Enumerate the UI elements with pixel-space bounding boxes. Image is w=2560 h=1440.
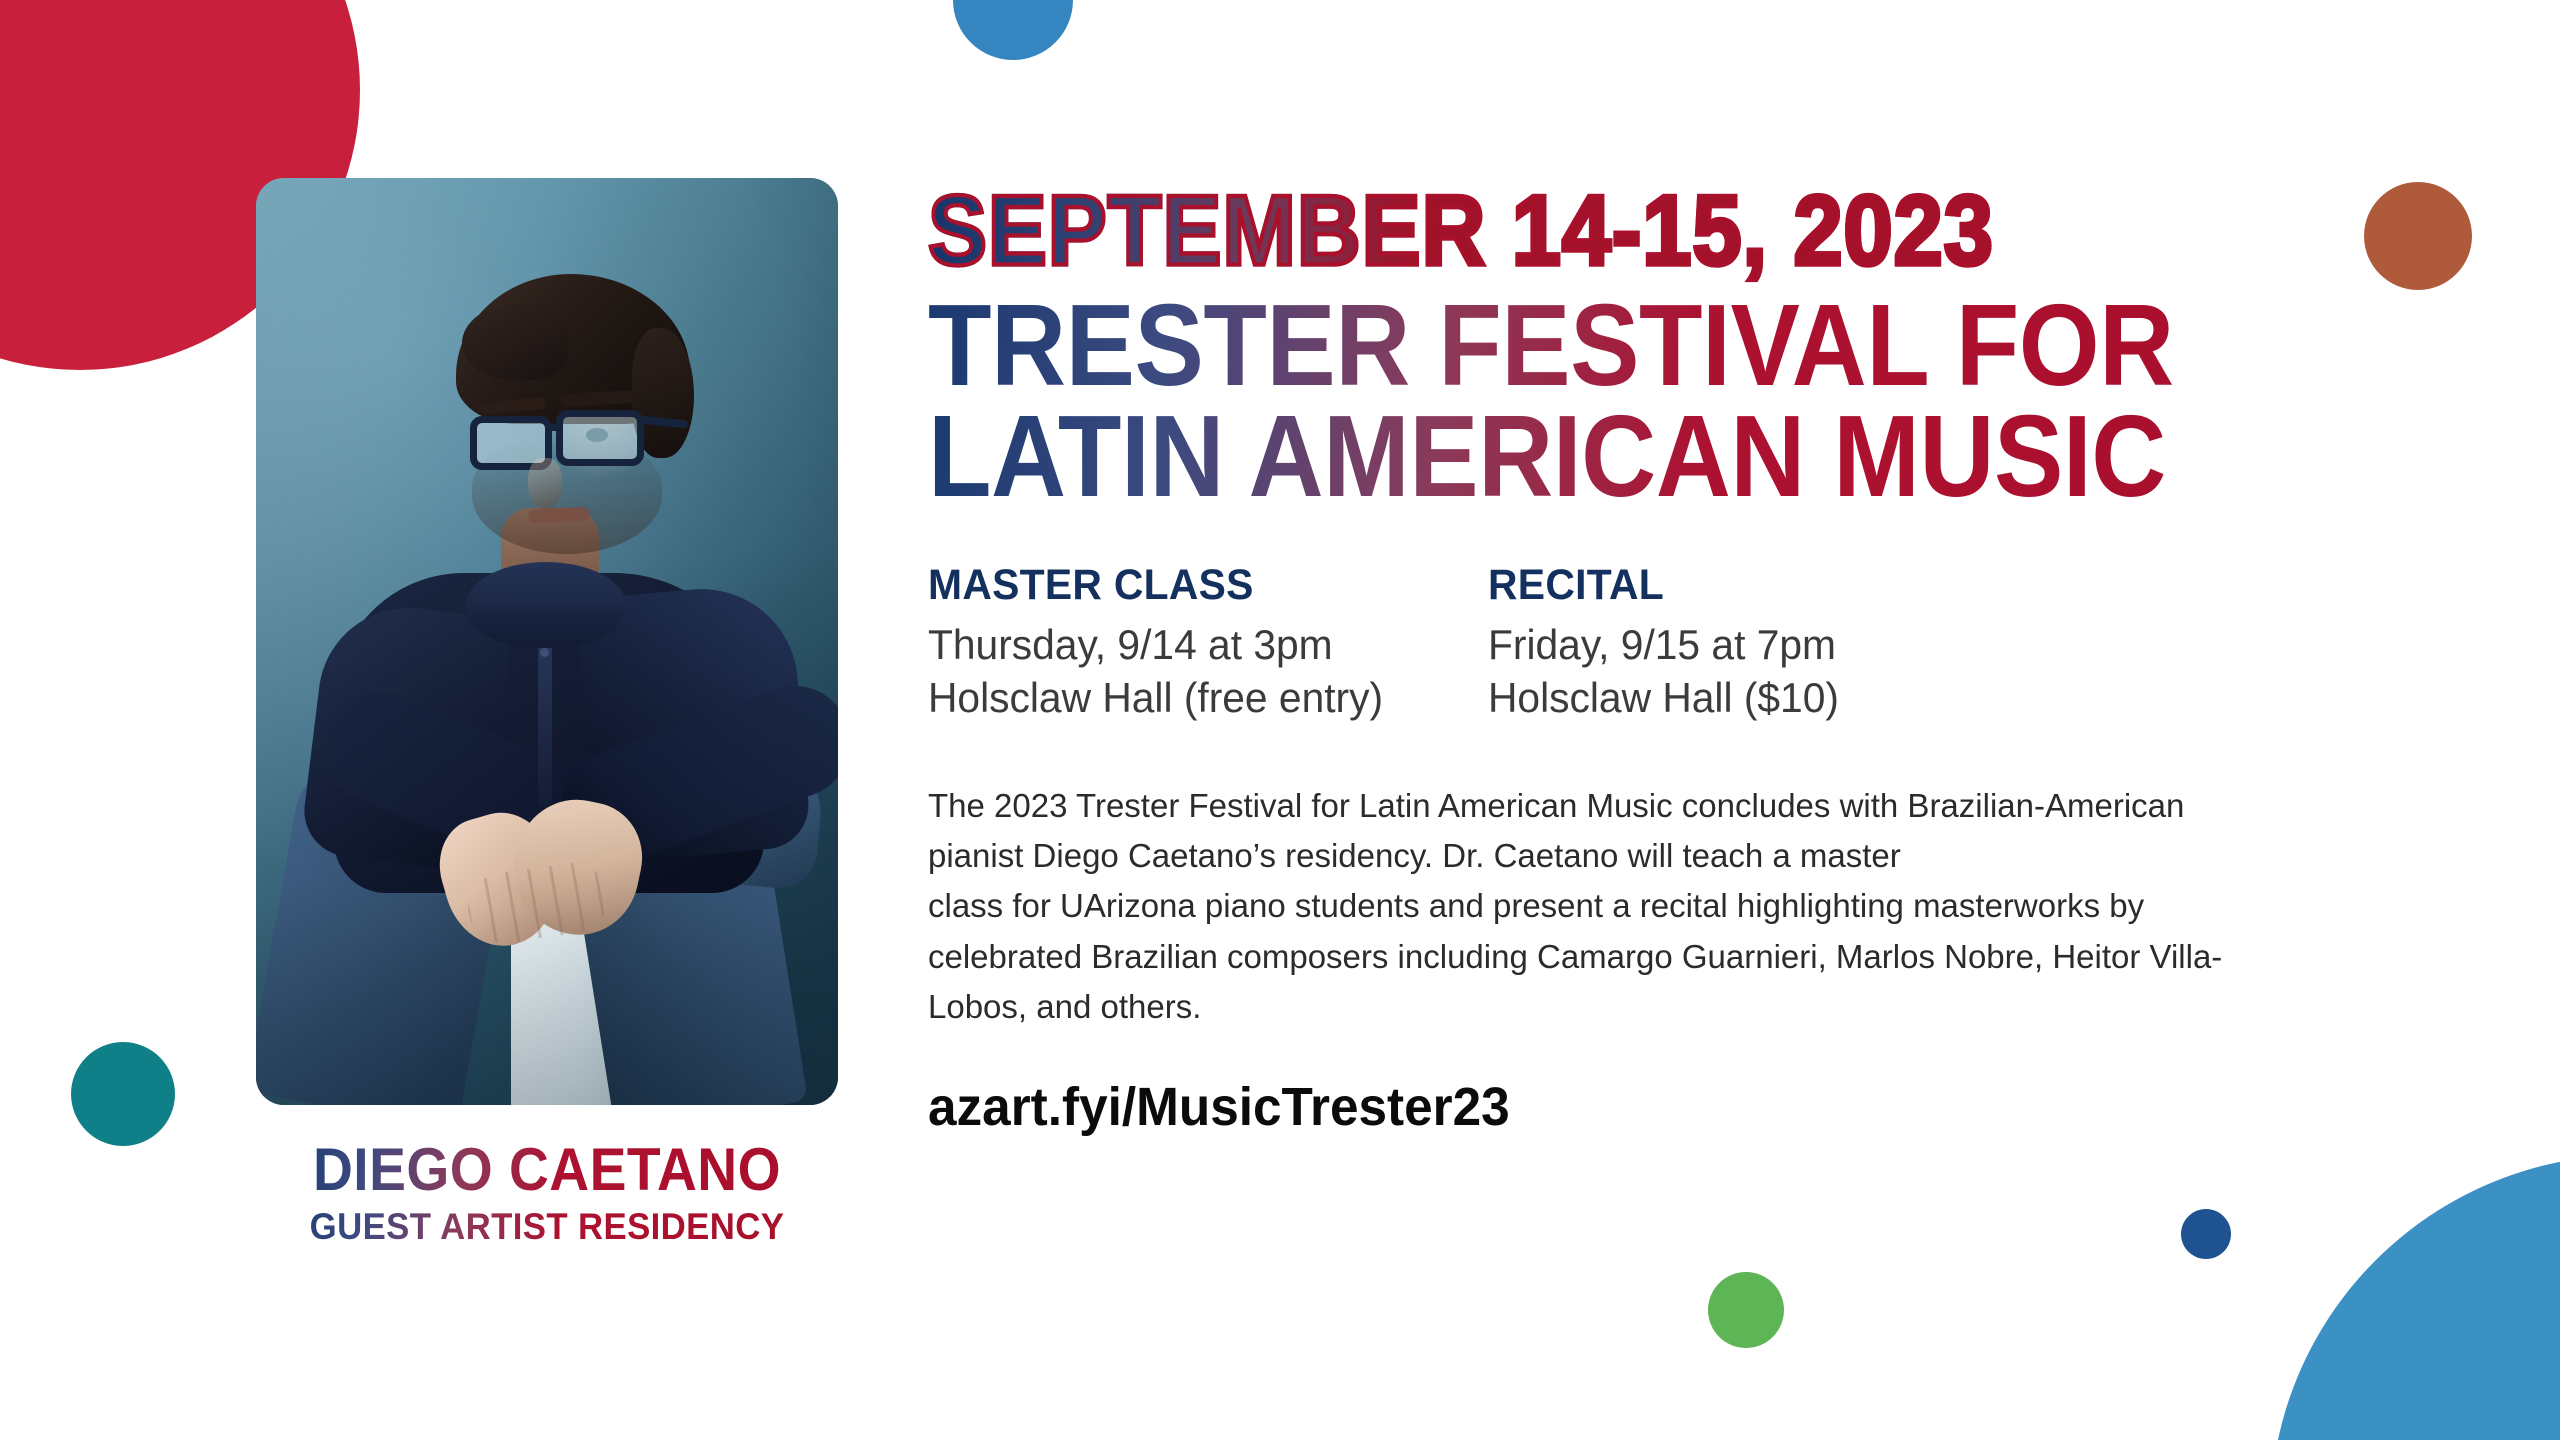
photo-vignette	[256, 178, 838, 1105]
festival-title: TRESTER FESTIVAL FOR LATIN AMERICAN MUSI…	[928, 291, 2428, 512]
description-line: pianist Diego Caetano’s residency. Dr. C…	[928, 831, 2118, 881]
event-venue: Holsclaw Hall (free entry)	[928, 671, 1471, 725]
decorative-circle-blue-corner	[2270, 1155, 2560, 1440]
artist-portrait-photo	[256, 178, 838, 1105]
event-venue: Holsclaw Hall ($10)	[1488, 671, 2031, 725]
event-master-class: MASTER CLASS Thursday, 9/14 at 3pm Holsc…	[928, 561, 1488, 726]
event-recital: RECITAL Friday, 9/15 at 7pm Holsclaw Hal…	[1488, 561, 2048, 726]
decorative-circle-blue	[953, 0, 1073, 60]
description-line: celebrated Brazilian composers including…	[928, 932, 2118, 982]
decorative-circle-navy	[2181, 1209, 2231, 1259]
festival-title-line-2: LATIN AMERICAN MUSIC	[928, 402, 2428, 513]
event-list: MASTER CLASS Thursday, 9/14 at 3pm Holsc…	[928, 561, 2428, 726]
event-datetime: Friday, 9/15 at 7pm	[1488, 618, 2031, 672]
festival-date: SEPTEMBER 14-15, 2023	[928, 181, 2368, 280]
poster-canvas: DIEGO CAETANO GUEST ARTIST RESIDENCY SEP…	[0, 0, 2560, 1440]
festival-title-line-1: TRESTER FESTIVAL FOR	[928, 291, 2428, 402]
festival-description: The 2023 Trester Festival for Latin Amer…	[928, 781, 2118, 1032]
description-line: class for UArizona piano students and pr…	[928, 881, 2118, 931]
festival-url[interactable]: azart.fyi/MusicTrester23	[928, 1076, 2353, 1138]
decorative-circle-green	[1708, 1272, 1784, 1348]
description-line: Lobos, and others.	[928, 982, 2118, 1032]
info-column: SEPTEMBER 14-15, 2023 TRESTER FESTIVAL F…	[928, 185, 2428, 1138]
artist-role: GUEST ARTIST RESIDENCY	[273, 1206, 820, 1248]
event-heading: RECITAL	[1488, 561, 2020, 610]
decorative-circle-teal	[71, 1042, 175, 1146]
event-heading: MASTER CLASS	[928, 561, 1460, 610]
artist-name: DIEGO CAETANO	[279, 1139, 814, 1200]
artist-column: DIEGO CAETANO GUEST ARTIST RESIDENCY	[256, 178, 838, 1248]
event-datetime: Thursday, 9/14 at 3pm	[928, 618, 1471, 672]
description-line: The 2023 Trester Festival for Latin Amer…	[928, 781, 2118, 831]
